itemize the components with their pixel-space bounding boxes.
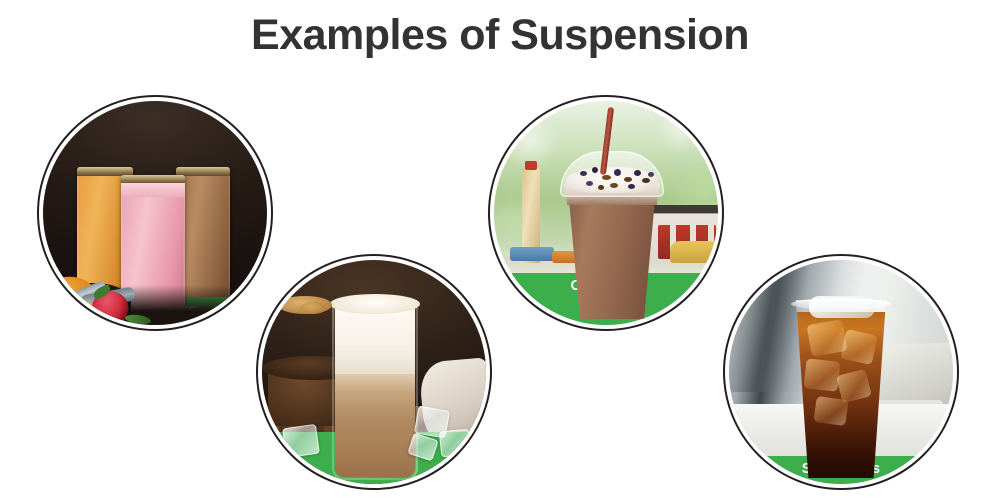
slide-canvas: Examples of Suspension — [0, 0, 1000, 501]
ice-cube — [282, 424, 320, 458]
background-bottle-cap — [525, 161, 537, 170]
ice-cube — [804, 358, 841, 391]
card-image-clip: Soft Drinks — [729, 260, 953, 484]
card-coffee-creamers[interactable]: CoffeeCreamers — [256, 254, 492, 490]
coffee-creamers-photo — [262, 260, 486, 484]
background-object — [670, 241, 718, 263]
coffee-layer — [335, 374, 415, 477]
card-image-clip: Fruit Drinks — [43, 101, 267, 325]
latte-glass — [332, 300, 418, 480]
card-soft-drinks[interactable]: Soft Drinks — [723, 254, 959, 490]
card-image-clip: CoffeeCreamers — [262, 260, 486, 484]
chocolate-sprinkles — [566, 163, 658, 193]
fruit-drinks-photo — [43, 101, 267, 325]
caramel-crumble — [300, 302, 326, 314]
ice-cube — [439, 429, 472, 458]
card-chocolate-drinks[interactable]: ChocolateDrinks — [488, 95, 724, 331]
ice-cube — [813, 396, 848, 426]
soft-drinks-photo — [729, 260, 953, 484]
smoothie-foam — [121, 183, 185, 197]
glass-rim — [791, 298, 891, 310]
ice-cube — [840, 329, 878, 365]
foam-top — [330, 294, 420, 314]
page-title: Examples of Suspension — [0, 12, 1000, 58]
milk-foam-layer — [335, 306, 415, 376]
background-object — [510, 247, 554, 261]
card-image-clip: ChocolateDrinks — [494, 101, 718, 325]
card-fruit-drinks[interactable]: Fruit Drinks — [37, 95, 273, 331]
